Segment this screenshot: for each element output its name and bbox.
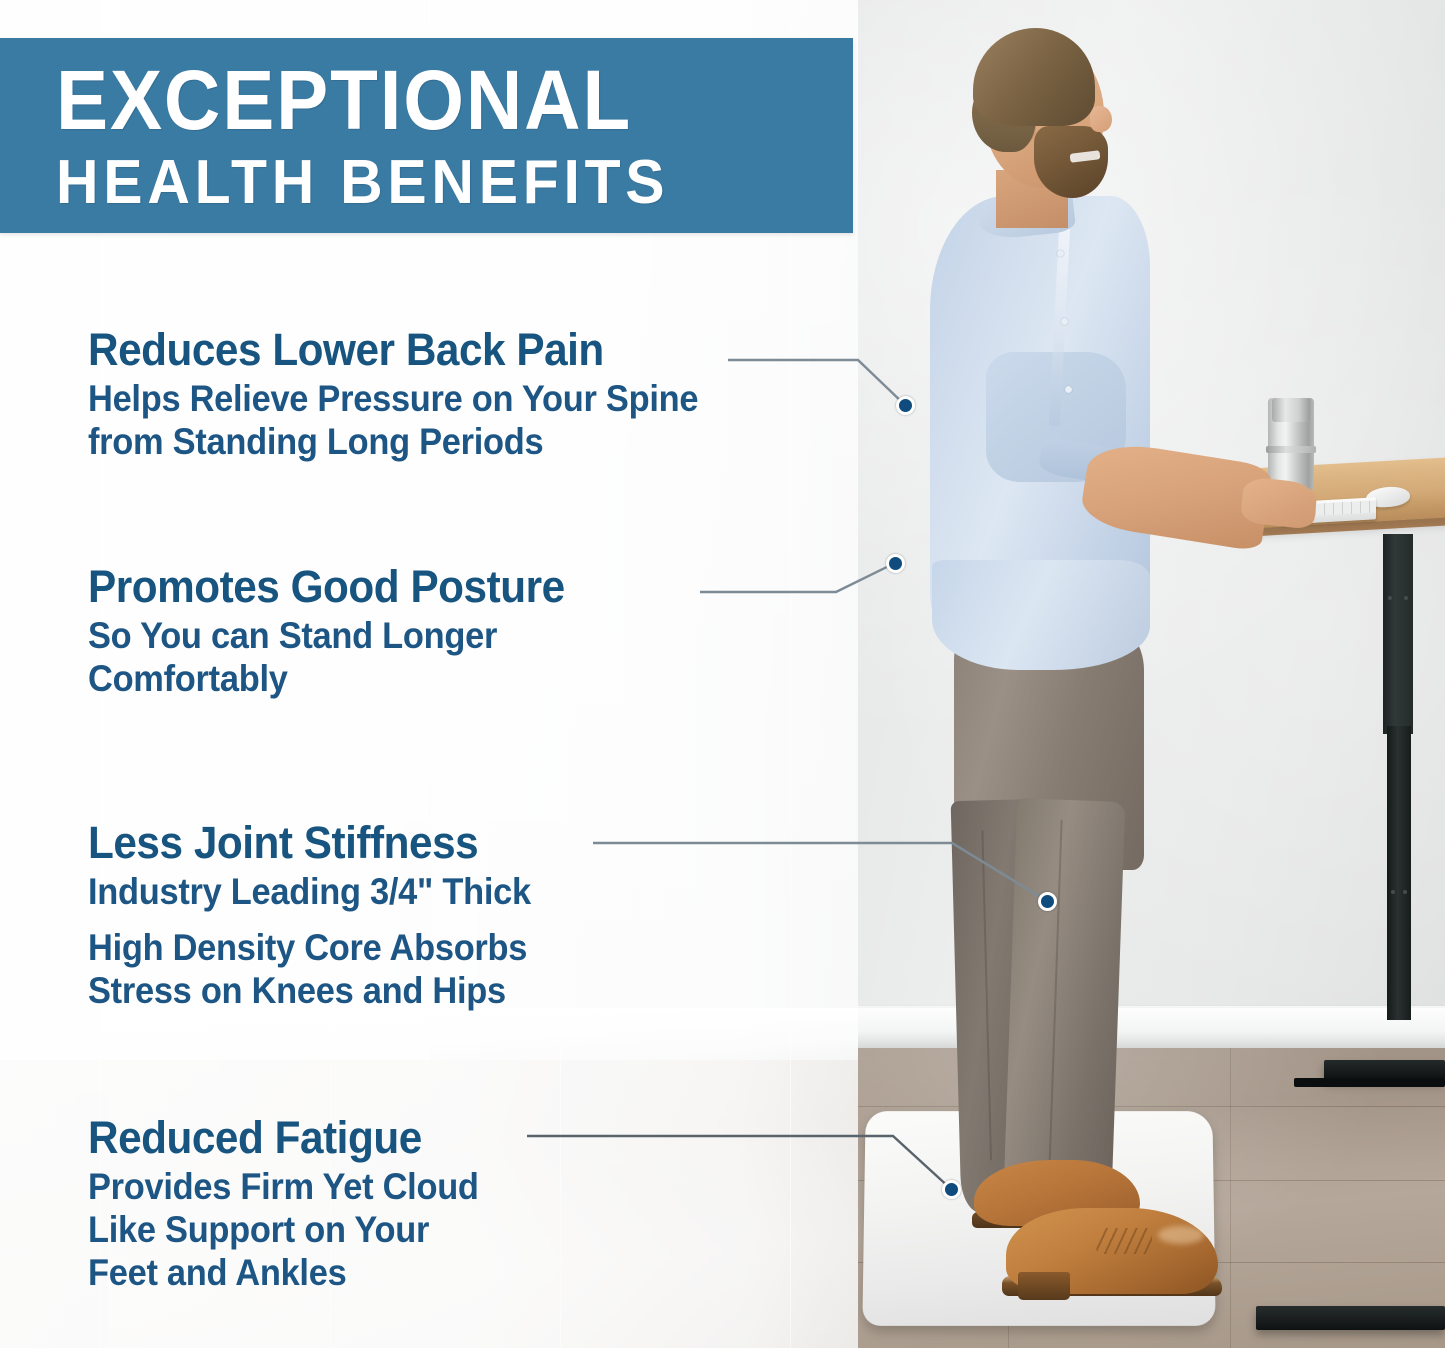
benefit-block-1: Reduces Lower Back Pain Helps Relieve Pr… <box>88 325 744 463</box>
benefit-line-3-1: Industry Leading 3/4" Thick <box>88 870 531 913</box>
benefit-block-4: Reduced Fatigue Provides Firm Yet Cloud … <box>88 1113 508 1294</box>
benefit-body-1: Helps Relieve Pressure on Your Spine fro… <box>88 377 744 463</box>
benefit-block-3: Less Joint Stiffness Industry Leading 3/… <box>88 818 564 1012</box>
desk-foot-plate <box>1324 1060 1445 1080</box>
header-title-line2: HEALTH BENEFITS <box>56 150 669 216</box>
benefit-line-2-1: So You can Stand Longer <box>88 614 560 657</box>
shoe-heel <box>1018 1272 1070 1300</box>
benefit-line-3-2: High Density Core Absorbs <box>88 926 531 969</box>
callout-dot-feet <box>942 1180 961 1199</box>
benefit-title-4: Reduced Fatigue <box>88 1113 483 1163</box>
desk-foot-plate-shadow <box>1294 1078 1445 1087</box>
benefit-line-4-1: Provides Firm Yet Cloud <box>88 1165 479 1208</box>
benefit-body-4: Provides Firm Yet Cloud Like Support on … <box>88 1165 508 1294</box>
benefit-line-3-3: Stress on Knees and Hips <box>88 969 531 1012</box>
person-nose <box>1090 106 1112 132</box>
benefit-line-4-3: Feet and Ankles <box>88 1251 479 1294</box>
benefit-line-4-2: Like Support on Your <box>88 1208 479 1251</box>
desk-leg-lower <box>1387 726 1411 1020</box>
benefit-body-2: So You can Stand Longer Comfortably <box>88 614 595 700</box>
benefit-line-1-1: Helps Relieve Pressure on Your Spine <box>88 377 698 420</box>
benefit-title-2: Promotes Good Posture <box>88 562 565 612</box>
header-banner: EXCEPTIONAL HEALTH BENEFITS <box>0 38 853 233</box>
callout-dot-lower-back <box>896 396 915 415</box>
header-title-line1: EXCEPTIONAL <box>56 56 632 144</box>
callout-dot-knee <box>1038 892 1057 911</box>
benefit-line-2-2: Comfortably <box>88 657 560 700</box>
desk-leg-upper <box>1383 534 1413 734</box>
infographic-canvas: EXCEPTIONAL HEALTH BENEFITS Reduces Lowe… <box>0 0 1445 1348</box>
tumbler-band <box>1266 446 1316 453</box>
benefit-title-1: Reduces Lower Back Pain <box>88 325 705 375</box>
desk-foot-plate-front <box>1256 1306 1445 1330</box>
benefit-block-2: Promotes Good Posture So You can Stand L… <box>88 562 595 700</box>
product-photo <box>858 0 1445 1348</box>
tumbler-neck <box>1272 398 1310 422</box>
callout-dot-upper-back <box>886 554 905 573</box>
shoe-laces <box>1096 1228 1152 1254</box>
benefit-title-3: Less Joint Stiffness <box>88 818 536 868</box>
benefit-line-1-2: from Standing Long Periods <box>88 420 698 463</box>
person-leg-front <box>1003 798 1126 1222</box>
benefit-body-3: Industry Leading 3/4" Thick High Density… <box>88 870 564 1012</box>
photo-baseboard <box>858 1008 1445 1050</box>
person-shirt-hem <box>932 560 1150 670</box>
